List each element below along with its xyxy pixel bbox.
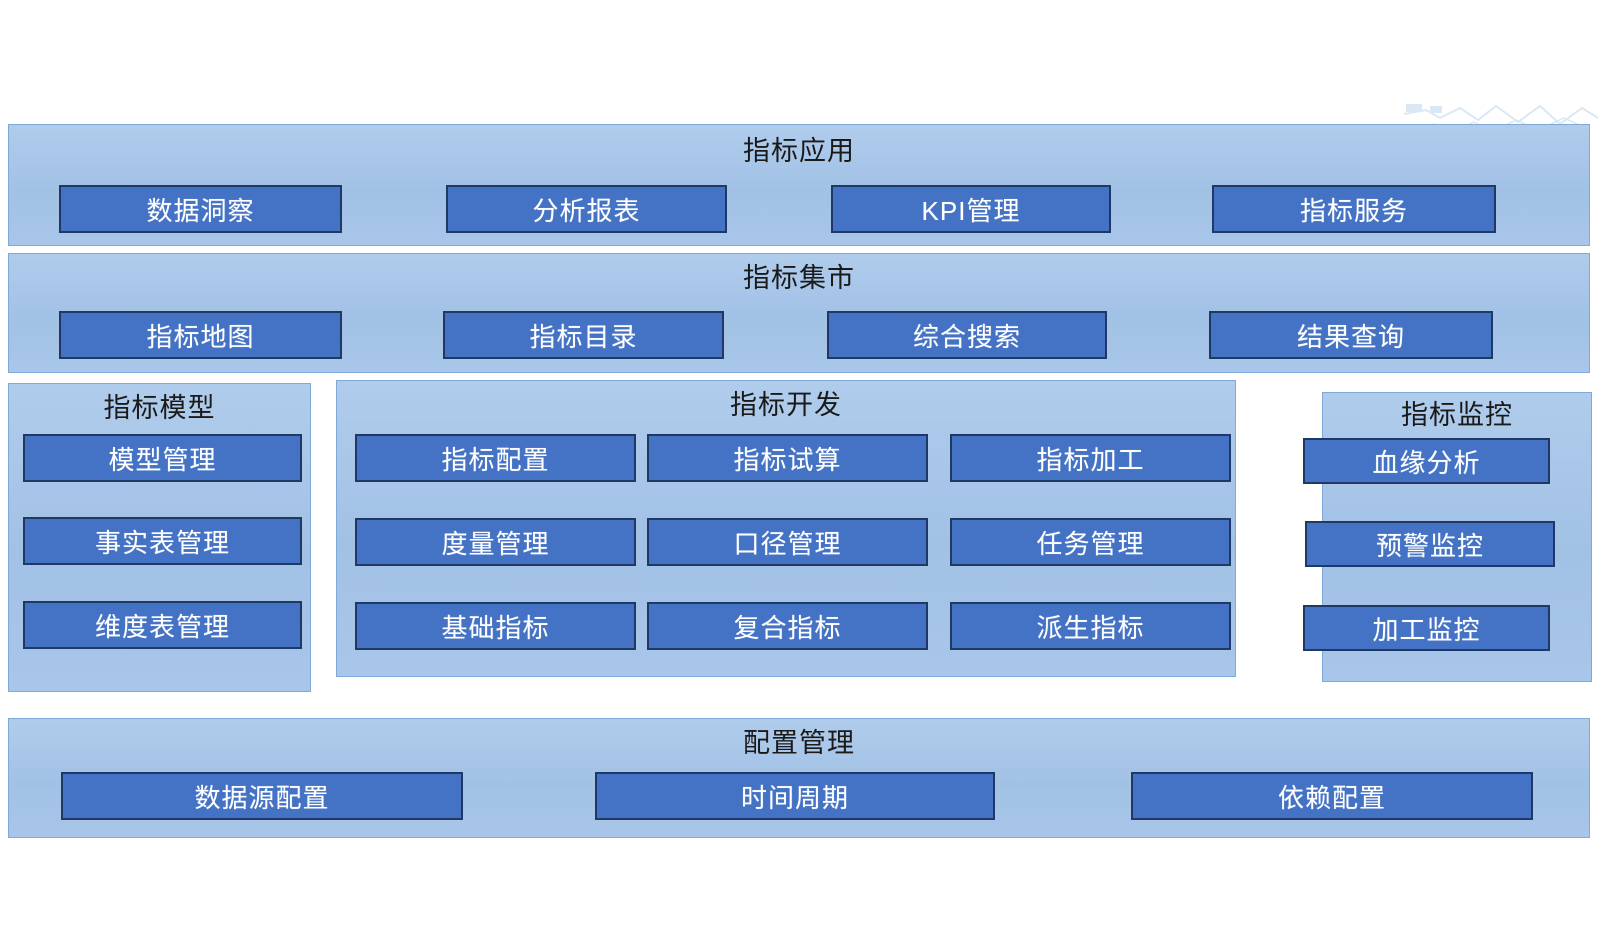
tile-model-management[interactable]: 模型管理: [23, 434, 302, 482]
tile-data-insight[interactable]: 数据洞察: [59, 185, 342, 233]
section-title-metric-development: 指标开发: [337, 389, 1235, 421]
tile-caliber-management[interactable]: 口径管理: [647, 518, 928, 566]
section-configuration-management: 配置管理 数据源配置 时间周期 依赖配置: [8, 718, 1590, 838]
tile-metric-catalog[interactable]: 指标目录: [443, 311, 724, 359]
tile-measure-management[interactable]: 度量管理: [355, 518, 636, 566]
tile-basic-metric[interactable]: 基础指标: [355, 602, 636, 650]
tile-processing-monitoring[interactable]: 加工监控: [1303, 605, 1550, 651]
section-metric-model: 指标模型 模型管理 事实表管理 维度表管理: [8, 383, 311, 692]
tile-fact-table-management[interactable]: 事实表管理: [23, 517, 302, 565]
tile-dimension-table-management[interactable]: 维度表管理: [23, 601, 302, 649]
tile-dependency-configuration[interactable]: 依赖配置: [1131, 772, 1533, 820]
tile-derived-metric[interactable]: 派生指标: [950, 602, 1231, 650]
tile-kpi-management[interactable]: KPI管理: [831, 185, 1111, 233]
tile-metric-map[interactable]: 指标地图: [59, 311, 342, 359]
tile-metric-processing[interactable]: 指标加工: [950, 434, 1231, 482]
tile-alert-monitoring[interactable]: 预警监控: [1305, 521, 1555, 567]
tile-metric-trial-calculation[interactable]: 指标试算: [647, 434, 928, 482]
tile-analysis-report[interactable]: 分析报表: [446, 185, 727, 233]
tile-lineage-analysis[interactable]: 血缘分析: [1303, 438, 1550, 484]
section-metric-application: 指标应用 数据洞察 分析报表 KPI管理 指标服务: [8, 124, 1590, 246]
tile-time-period[interactable]: 时间周期: [595, 772, 995, 820]
architecture-diagram: 指标应用 数据洞察 分析报表 KPI管理 指标服务 指标集市 指标地图 指标目录…: [0, 0, 1608, 940]
section-metric-monitoring: 指标监控 血缘分析 预警监控 加工监控: [1322, 392, 1592, 682]
section-title-metric-monitoring: 指标监控: [1323, 399, 1591, 431]
section-title-metric-marketplace: 指标集市: [9, 262, 1589, 294]
section-metric-marketplace: 指标集市 指标地图 指标目录 综合搜索 结果查询: [8, 253, 1590, 373]
tile-task-management[interactable]: 任务管理: [950, 518, 1231, 566]
tile-result-query[interactable]: 结果查询: [1209, 311, 1493, 359]
tile-comprehensive-search[interactable]: 综合搜索: [827, 311, 1107, 359]
section-title-metric-model: 指标模型: [9, 392, 310, 424]
section-title-configuration-management: 配置管理: [9, 727, 1589, 759]
section-title-metric-application: 指标应用: [9, 135, 1589, 167]
tile-composite-metric[interactable]: 复合指标: [647, 602, 928, 650]
section-metric-development: 指标开发 指标配置 指标试算 指标加工 度量管理 口径管理 任务管理 基础指标 …: [336, 380, 1236, 677]
tile-datasource-configuration[interactable]: 数据源配置: [61, 772, 463, 820]
tile-metric-configuration[interactable]: 指标配置: [355, 434, 636, 482]
tile-metric-service[interactable]: 指标服务: [1212, 185, 1496, 233]
